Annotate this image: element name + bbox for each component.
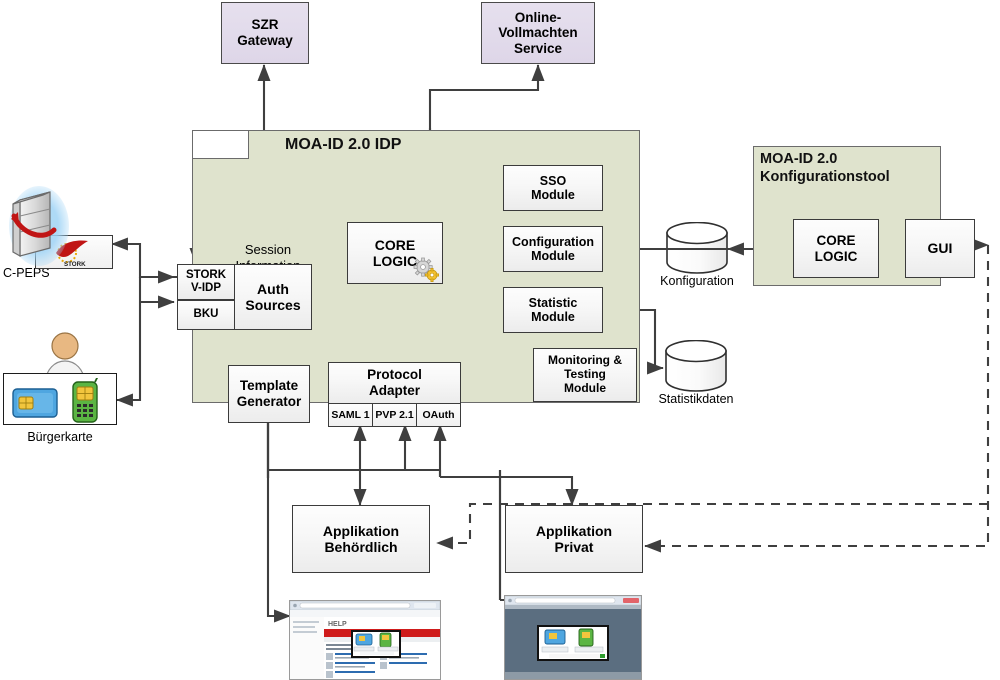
applikation-privat-box[interactable]: Applikation Privat — [505, 505, 643, 573]
server-icon — [8, 186, 70, 268]
auth-sources-label: Auth Sources — [235, 281, 311, 313]
smartcard-icon — [12, 386, 58, 418]
monitoring-testing-module-label: Monitoring & Testing Module — [534, 354, 636, 395]
sso-module-label: SSO Module — [504, 174, 602, 203]
protocol-item-saml1[interactable]: SAML 1 — [329, 404, 373, 426]
applikation-behoerdlich-label: Applikation Behördlich — [293, 523, 429, 555]
statistic-module-label: Statistic Module — [504, 296, 602, 325]
gear-icon — [411, 256, 441, 283]
stork-vidp-label: STORK V-IDP — [178, 269, 234, 295]
browser-thumbnail-privat[interactable] — [504, 595, 642, 680]
gui-label: GUI — [906, 240, 974, 256]
diagram-canvas: MOA-ID 2.0 IDP MOA-ID 2.0 Konfigurations… — [0, 0, 1000, 678]
online-vollmachten-service-box[interactable]: Online- Vollmachten Service — [481, 2, 595, 64]
template-generator-label: Template Generator — [229, 378, 309, 409]
browser-thumbnail-behoerdlich[interactable]: HELP — [289, 600, 441, 680]
bku-box[interactable]: BKU — [177, 300, 235, 330]
configuration-module-label: Configuration Module — [504, 235, 602, 264]
template-generator-box[interactable]: Template Generator — [228, 365, 310, 423]
protocol-adapter-box[interactable]: Protocol Adapter — [328, 362, 461, 404]
protocol-adapter-label: Protocol Adapter — [329, 367, 460, 398]
idp-panel-title: MOA-ID 2.0 IDP — [285, 136, 401, 154]
protocol-item-pvp21[interactable]: PVP 2.1 — [373, 404, 417, 426]
gui-box[interactable]: GUI — [905, 219, 975, 278]
protocol-item-oauth[interactable]: OAuth — [417, 404, 460, 426]
konfigurationstool-core-logic-box[interactable]: CORE LOGIC — [793, 219, 879, 278]
configuration-module-box[interactable]: Configuration Module — [503, 226, 603, 272]
sso-module-box[interactable]: SSO Module — [503, 165, 603, 211]
konfigurationstool-panel-title: MOA-ID 2.0 Konfigurationstool — [760, 150, 890, 186]
auth-sources-box[interactable]: Auth Sources — [234, 264, 312, 330]
online-vollmachten-service-label: Online- Vollmachten Service — [482, 10, 594, 57]
bku-label: BKU — [178, 308, 234, 321]
idp-panel-notch — [193, 131, 249, 159]
stork-vidp-box[interactable]: STORK V-IDP — [177, 264, 235, 300]
applikation-privat-label: Applikation Privat — [506, 523, 642, 555]
svg-text:HELP: HELP — [328, 621, 347, 628]
statistic-module-box[interactable]: Statistic Module — [503, 287, 603, 333]
konfigurationstool-core-logic-label: CORE LOGIC — [794, 233, 878, 264]
mobile-phone-icon — [68, 378, 102, 424]
protocol-adapter-items: SAML 1 PVP 2.1 OAuth — [328, 404, 461, 427]
szr-gateway-label: SZR Gateway — [222, 17, 308, 48]
applikation-behoerdlich-box[interactable]: Applikation Behördlich — [292, 505, 430, 573]
monitoring-testing-module-box[interactable]: Monitoring & Testing Module — [533, 348, 637, 402]
szr-gateway-box[interactable]: SZR Gateway — [221, 2, 309, 64]
